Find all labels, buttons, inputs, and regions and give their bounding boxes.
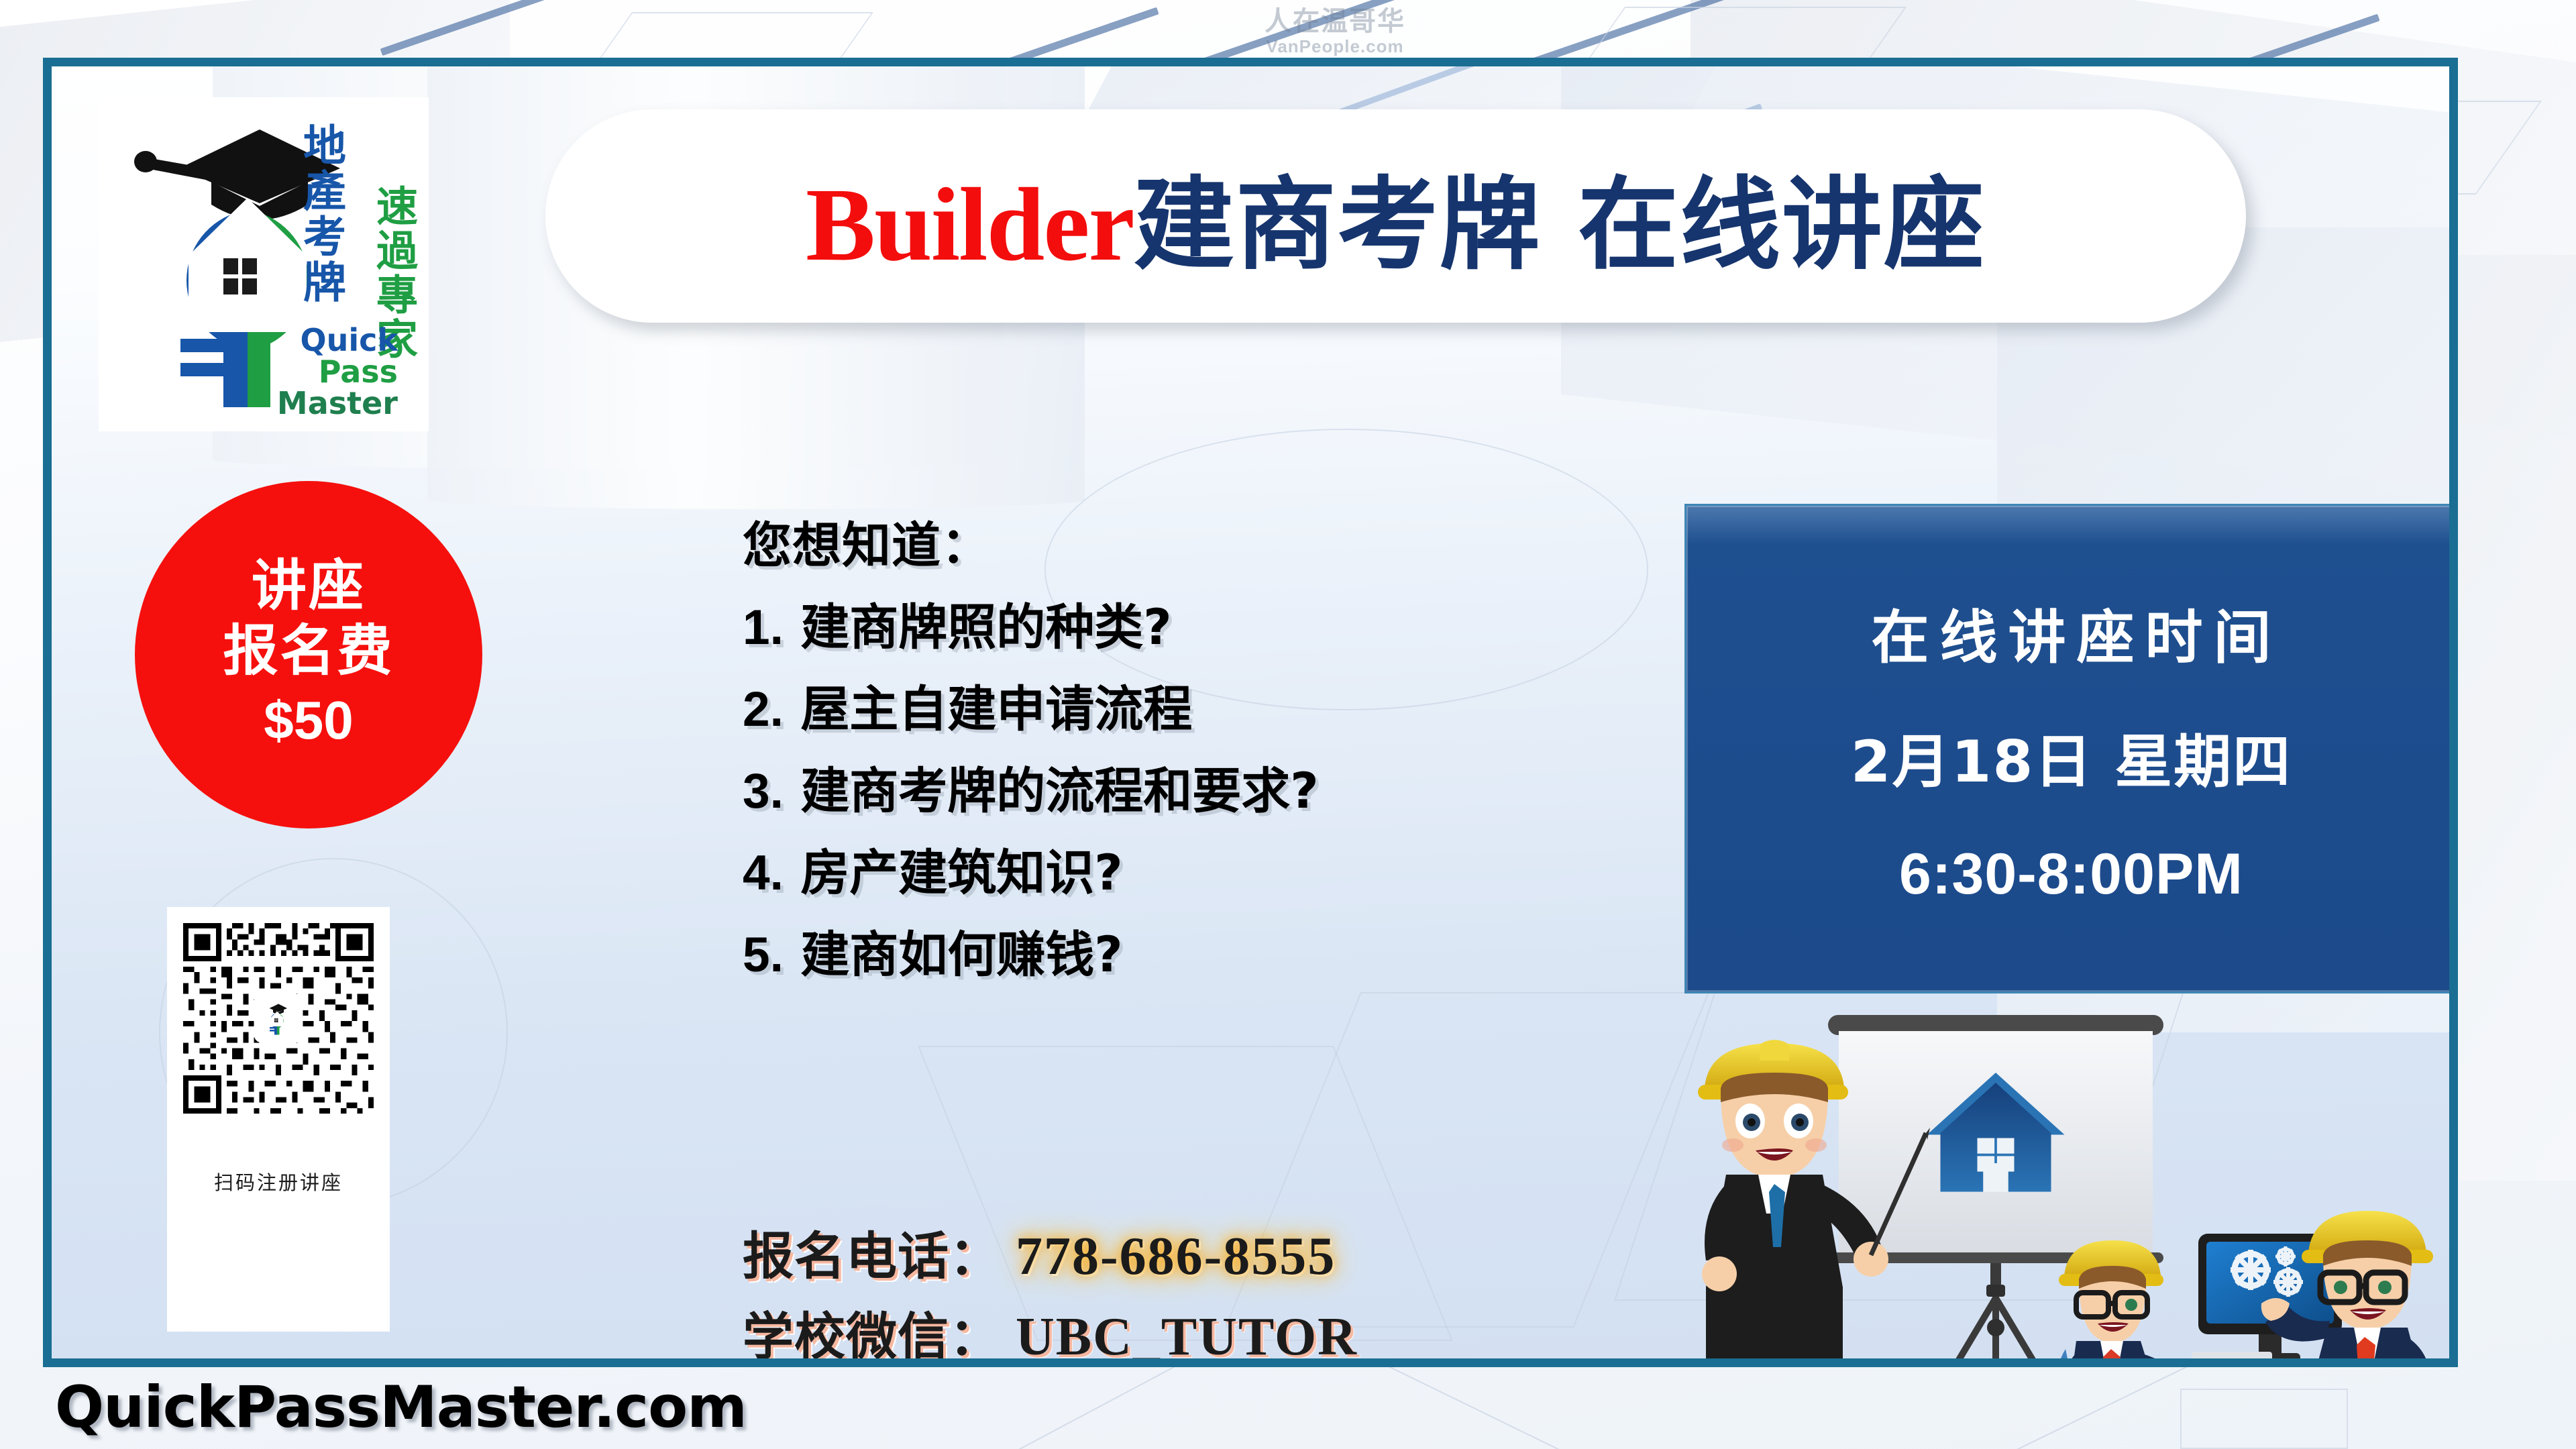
title-chinese: 建商考牌 在线讲座 — [1134, 167, 1986, 284]
list-item: 2. 屋主自建申请流程 — [743, 669, 1675, 741]
question-text: 建商牌照的种类? — [800, 599, 1171, 656]
seminar-time-box: 在线讲座时间 2月18日 星期四 6:30-8:00PM — [1684, 504, 2458, 994]
wechat-label: 学校微信： — [743, 1295, 1001, 1367]
logo-en-line1: Quick — [257, 325, 398, 356]
phone-row: 报名电话： 778-686-8555 — [743, 1215, 1682, 1289]
qr-caption: 扫码注册讲座 — [214, 1167, 343, 1195]
wechat-id[interactable]: UBC_TUTOR — [1016, 1307, 1358, 1367]
phone-label: 报名电话： — [743, 1215, 1001, 1289]
badge-price: $50 — [264, 686, 353, 755]
badge-line1: 讲座 — [252, 554, 366, 619]
price-badge: 讲座 报名费 $50 — [135, 481, 482, 828]
website-url[interactable]: QuickPassMaster.com — [55, 1374, 747, 1441]
questions-heading: 您想知道： — [743, 506, 1675, 577]
question-number: 2. — [743, 682, 784, 737]
contact-block: 报名电话： 778-686-8555 学校微信： UBC_TUTOR — [743, 1215, 1682, 1367]
question-text: 屋主自建申请流程 — [800, 681, 1192, 738]
question-number: 4. — [743, 846, 784, 900]
page-title: Builder建商考牌 在线讲座 — [806, 144, 1986, 289]
quickpassmaster-logo: 地產考牌 速過專家 Quick Pass Master — [99, 97, 429, 431]
question-number: 5. — [743, 928, 784, 982]
list-item: 3. 建商考牌的流程和要求? — [743, 751, 1675, 822]
logo-en-line3: Master — [257, 388, 398, 419]
logo-en-line2: Pass — [257, 356, 398, 388]
list-item: 1. 建商牌照的种类? — [743, 588, 1675, 659]
list-item: 5. 建商如何赚钱? — [743, 915, 1675, 986]
list-item: 4. 房产建筑知识? — [743, 833, 1675, 904]
qr-code-svg — [178, 918, 379, 1119]
time-box-hours: 6:30-8:00PM — [1899, 841, 2243, 908]
time-box-date: 2月18日 星期四 — [1851, 714, 2292, 798]
questions-list: 您想知道： 1. 建商牌照的种类? 2. 屋主自建申请流程 3. 建商考牌的流程… — [743, 506, 1675, 997]
question-number: 3. — [743, 764, 784, 818]
question-text: 房产建筑知识? — [800, 845, 1122, 902]
presentation-illustration — [1662, 992, 2458, 1367]
bg-outline — [2180, 1389, 2348, 1449]
phone-number[interactable]: 778-686-8555 — [1016, 1226, 1336, 1287]
title-english: Builder — [806, 166, 1134, 282]
qr-code-icon[interactable] — [178, 918, 379, 1119]
qr-card: 扫码注册讲座 — [167, 907, 390, 1332]
title-banner: Builder建商考牌 在线讲座 — [545, 109, 2246, 323]
time-box-title: 在线讲座时间 — [1861, 590, 2282, 674]
question-number: 1. — [743, 600, 784, 655]
badge-line2: 报名费 — [223, 619, 394, 684]
question-text: 建商考牌的流程和要求? — [800, 763, 1318, 820]
illustration-svg — [1662, 992, 2458, 1367]
poster-frame: 地產考牌 速過專家 Quick Pass Master Builder建商考牌 … — [43, 58, 2458, 1367]
question-text: 建商如何赚钱? — [800, 926, 1122, 983]
wechat-row: 学校微信： UBC_TUTOR — [743, 1295, 1682, 1367]
logo-english: Quick Pass Master — [257, 325, 398, 419]
logo-chinese-blue: 地產考牌 — [298, 123, 343, 305]
